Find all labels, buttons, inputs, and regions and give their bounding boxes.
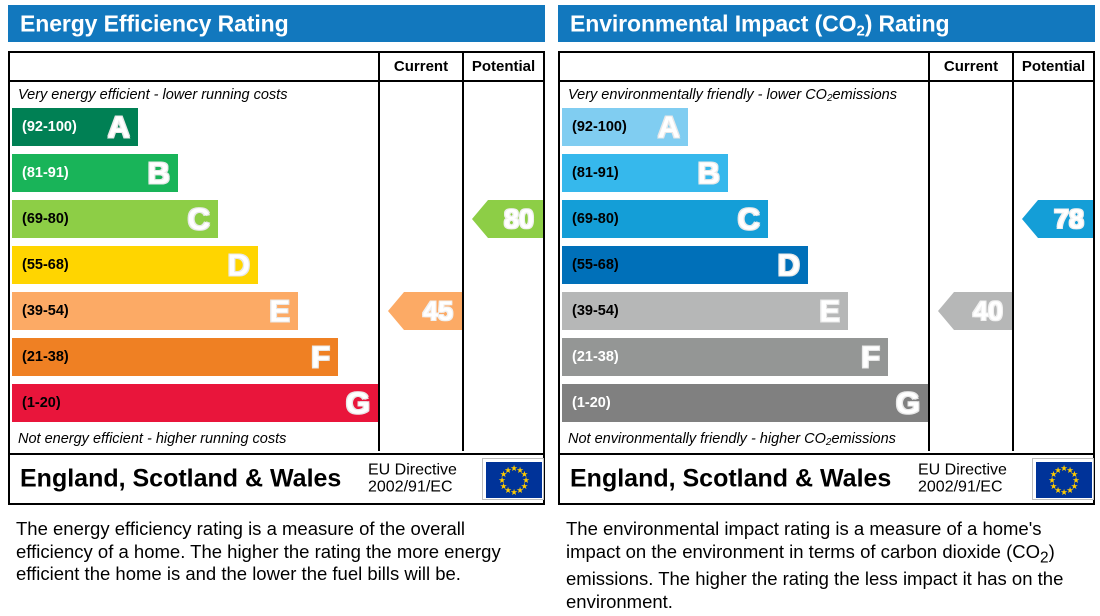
table-header-row: Current Potential (10, 53, 543, 82)
caption-very-friendly: Very environmentally friendly - lower CO… (560, 82, 926, 108)
band-row: (1-20) G (562, 384, 928, 422)
page-title: Environmental Impact (CO2) Rating (570, 10, 950, 37)
directive-line-1: EU Directive (368, 462, 457, 479)
caption-post: emissions (833, 87, 897, 103)
band-row: (21-38) F (562, 338, 888, 376)
band-range: (39-54) (562, 303, 619, 319)
band-letter: F (861, 342, 880, 373)
title-subscript: 2 (856, 22, 864, 39)
band-letter: E (269, 296, 290, 327)
column-header-potential: Potential (1012, 53, 1093, 80)
band-range: (21-38) (562, 349, 619, 365)
eu-flag-field: ★★★★★★★★★★★★ (1036, 462, 1092, 498)
footer-directive-label: EU Directive 2002/91/EC (918, 462, 1007, 497)
description-pre: The environmental impact rating is a mea… (566, 518, 1042, 562)
caption-very-efficient: Very energy efficient - lower running co… (10, 82, 376, 108)
description-subscript: 2 (1040, 549, 1049, 566)
band-range: (1-20) (12, 395, 61, 411)
title-post: ) Rating (865, 10, 950, 36)
environmental-impact-title-bar: Environmental Impact (CO2) Rating (558, 5, 1095, 42)
band-range: (69-80) (562, 211, 619, 227)
current-rating-value: 45 (423, 298, 453, 325)
eu-star-icon: ★ (1054, 465, 1062, 474)
caption-pre: Not environmentally friendly - higher CO (568, 431, 826, 447)
band-letter: D (228, 250, 250, 281)
band-letter: C (188, 204, 210, 235)
footer-region-label: England, Scotland & Wales (20, 465, 341, 494)
band-letter: C (738, 204, 760, 235)
band-range: (92-100) (562, 119, 627, 135)
eu-flag-icon: ★★★★★★★★★★★★ (1032, 458, 1094, 500)
environmental-description: The environmental impact rating is a mea… (566, 518, 1066, 613)
eu-flag-field: ★★★★★★★★★★★★ (486, 462, 542, 498)
band-row: (92-100) A (12, 108, 138, 146)
column-separator-1 (378, 82, 380, 451)
footer-directive-label: EU Directive 2002/91/EC (368, 462, 457, 497)
footer-row: England, Scotland & Wales EU Directive 2… (560, 453, 1093, 503)
footer-region-label: England, Scotland & Wales (570, 465, 891, 494)
column-header-current: Current (378, 53, 462, 80)
band-list: (92-100) A (81-91) B (69-80) C (55-68) D… (10, 108, 376, 426)
column-separator-2 (462, 82, 464, 451)
caption-subscript: 2 (826, 437, 832, 448)
band-letter: G (346, 388, 370, 419)
energy-description: The energy efficiency rating is a measur… (16, 518, 516, 586)
energy-efficiency-title-bar: Energy Efficiency Rating (8, 5, 545, 42)
band-row: (69-80) C (562, 200, 768, 238)
column-separator-1 (928, 82, 930, 451)
environmental-impact-panel: Environmental Impact (CO2) Rating Curren… (550, 0, 1100, 616)
band-letter: A (658, 112, 680, 143)
band-range: (39-54) (12, 303, 69, 319)
band-range: (55-68) (12, 257, 69, 273)
directive-line-1: EU Directive (918, 462, 1007, 479)
band-row: (81-91) B (562, 154, 728, 192)
band-row: (92-100) A (562, 108, 688, 146)
current-rating-value: 40 (973, 298, 1003, 325)
eu-star-icon: ★ (504, 465, 512, 474)
caption-not-friendly: Not environmentally friendly - higher CO… (560, 426, 926, 452)
band-letter: B (148, 158, 170, 189)
band-range: (69-80) (12, 211, 69, 227)
band-range: (81-91) (12, 165, 69, 181)
caption-subscript: 2 (827, 93, 833, 104)
caption-post: emissions (831, 431, 895, 447)
potential-rating-arrow: 78 (1022, 200, 1093, 238)
band-letter: D (778, 250, 800, 281)
band-range: (81-91) (562, 165, 619, 181)
column-header-current: Current (928, 53, 1012, 80)
band-letter: E (819, 296, 840, 327)
footer-row: England, Scotland & Wales EU Directive 2… (10, 453, 543, 503)
band-range: (92-100) (12, 119, 77, 135)
directive-line-2: 2002/91/EC (918, 479, 1007, 496)
band-row: (21-38) F (12, 338, 338, 376)
band-row: (55-68) D (12, 246, 258, 284)
band-letter: F (311, 342, 330, 373)
band-row: (69-80) C (12, 200, 218, 238)
band-letter: B (698, 158, 720, 189)
band-range: (21-38) (12, 349, 69, 365)
band-row: (55-68) D (562, 246, 808, 284)
potential-rating-arrow: 80 (472, 200, 543, 238)
directive-line-2: 2002/91/EC (368, 479, 457, 496)
epc-rating-page: Energy Efficiency Rating Current Potenti… (0, 0, 1100, 616)
environmental-impact-chart: Current Potential Very environmentally f… (558, 51, 1095, 505)
table-header-row: Current Potential (560, 53, 1093, 82)
page-title: Energy Efficiency Rating (20, 10, 289, 37)
band-letter: G (896, 388, 920, 419)
column-header-potential: Potential (462, 53, 543, 80)
current-rating-arrow: 45 (388, 292, 462, 330)
band-row: (39-54) E (562, 292, 848, 330)
eu-flag-icon: ★★★★★★★★★★★★ (482, 458, 544, 500)
band-range: (55-68) (562, 257, 619, 273)
energy-efficiency-chart: Current Potential Very energy efficient … (8, 51, 545, 505)
column-separator-2 (1012, 82, 1014, 451)
band-letter: A (108, 112, 130, 143)
current-rating-arrow: 40 (938, 292, 1012, 330)
band-row: (39-54) E (12, 292, 298, 330)
caption-pre: Very environmentally friendly - lower CO (568, 87, 827, 103)
potential-rating-value: 78 (1054, 206, 1084, 233)
band-range: (1-20) (562, 395, 611, 411)
band-row: (1-20) G (12, 384, 378, 422)
title-pre: Environmental Impact (CO (570, 10, 856, 36)
potential-rating-value: 80 (504, 206, 534, 233)
band-list: (92-100) A (81-91) B (69-80) C (55-68) D… (560, 108, 926, 426)
caption-not-efficient: Not energy efficient - higher running co… (10, 426, 376, 452)
band-row: (81-91) B (12, 154, 178, 192)
energy-efficiency-panel: Energy Efficiency Rating Current Potenti… (0, 0, 550, 616)
